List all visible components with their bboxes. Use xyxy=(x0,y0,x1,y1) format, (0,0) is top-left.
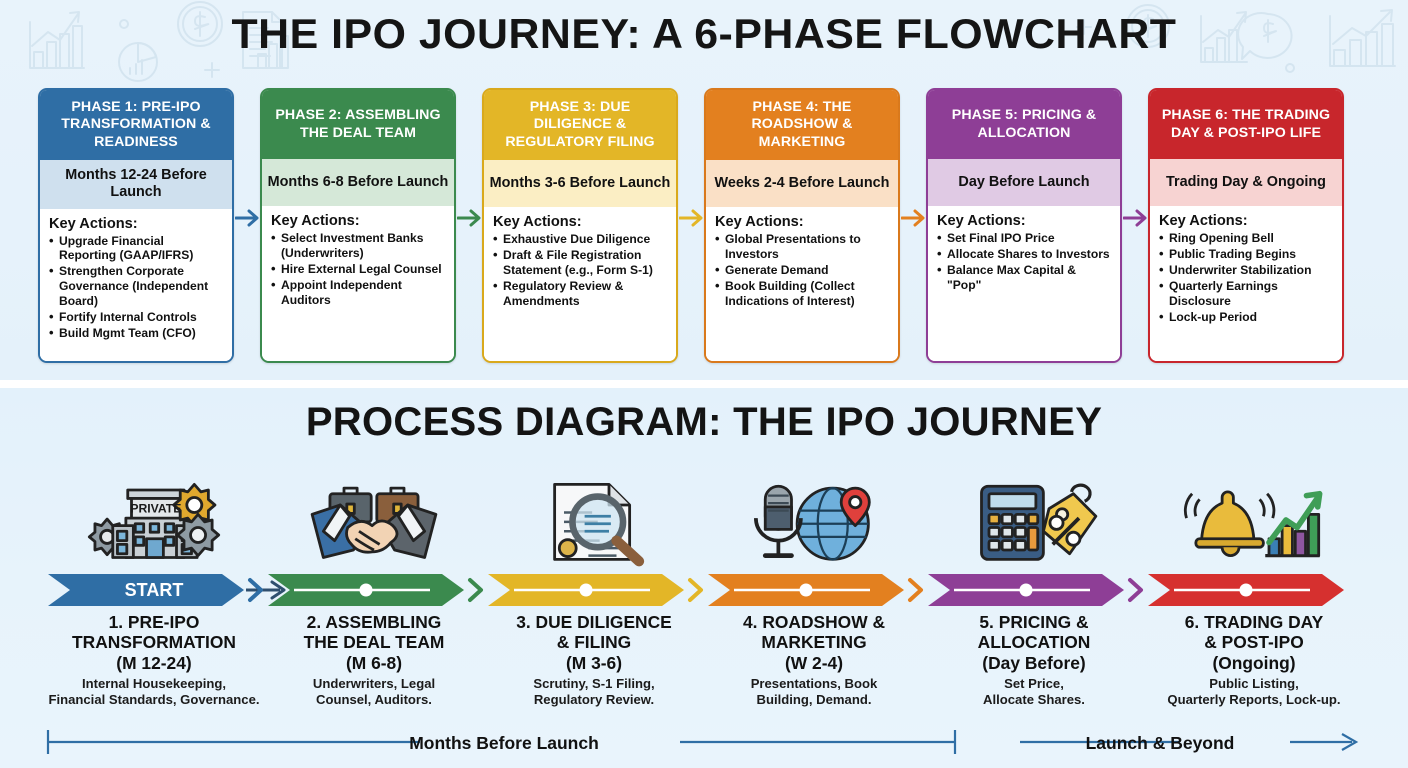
phase-card-5[interactable]: PHASE 5: PRICING & ALLOCATIONDay Before … xyxy=(926,88,1122,363)
process-step-name-line: ALLOCATION xyxy=(924,632,1144,652)
process-step-subtitle-line: Internal Housekeeping, xyxy=(44,676,264,692)
phase-card-slot-5: PHASE 5: PRICING & ALLOCATIONDay Before … xyxy=(926,88,1148,363)
phase-card-2[interactable]: PHASE 2: ASSEMBLING THE DEAL TEAMMonths … xyxy=(260,88,456,363)
process-step-list: PRIVATE 1. PRE-IPOTRANSFORMATION(M 12-24… xyxy=(44,460,1364,710)
phase-card-header-2: PHASE 2: ASSEMBLING THE DEAL TEAM xyxy=(262,90,454,159)
chevron-separator-icon xyxy=(910,580,921,600)
process-step-name-line: MARKETING xyxy=(704,632,924,652)
phase-card-body-4: Key Actions:Global Presentations to Inve… xyxy=(706,207,898,361)
key-actions-title-6: Key Actions: xyxy=(1159,213,1334,229)
connector-right-arrow-icon xyxy=(457,206,483,230)
process-step-name-line: THE DEAL TEAM xyxy=(264,632,484,652)
phase-card-6[interactable]: PHASE 6: THE TRADING DAY & POST-IPO LIFE… xyxy=(1148,88,1344,363)
key-action-item: Quarterly Earnings Disclosure xyxy=(1159,279,1334,309)
microphone-globe-pin-icon xyxy=(704,460,924,568)
key-actions-list-1: Upgrade Financial Reporting (GAAP/IFRS)S… xyxy=(49,234,224,342)
phase-card-body-6: Key Actions:Ring Opening BellPublic Trad… xyxy=(1150,206,1342,361)
process-step-name-line: 5. PRICING & xyxy=(924,612,1144,632)
process-step-subtitle: Presentations, BookBuilding, Demand. xyxy=(704,676,924,707)
process-step-3 xyxy=(484,460,704,568)
section-divider xyxy=(0,380,1408,388)
timeline-right-label: Launch & Beyond xyxy=(1086,733,1235,753)
process-step-name-line: 2. ASSEMBLING xyxy=(264,612,484,632)
document-magnifier-icon xyxy=(484,460,704,568)
process-step-subtitle-line: Financial Standards, Governance. xyxy=(44,692,264,708)
phase-card-header-5: PHASE 5: PRICING & ALLOCATION xyxy=(928,90,1120,159)
connector-right-arrow-icon xyxy=(679,206,705,230)
process-step-text-1: 1. PRE-IPOTRANSFORMATION(M 12-24)Interna… xyxy=(44,612,264,707)
key-action-item: Select Investment Banks (Underwriters) xyxy=(271,231,446,261)
process-step-name-line: (M 3-6) xyxy=(484,653,704,673)
process-step-name-line: (M 6-8) xyxy=(264,653,484,673)
phase-card-timing-6: Trading Day & Ongoing xyxy=(1150,159,1342,206)
process-step-subtitle-line: Building, Demand. xyxy=(704,692,924,708)
svg-text:PRIVATE: PRIVATE xyxy=(130,502,181,516)
key-action-item: Regulatory Review & Amendments xyxy=(493,279,668,309)
process-step-subtitle-line: Underwriters, Legal xyxy=(264,676,484,692)
key-actions-title-3: Key Actions: xyxy=(493,214,668,230)
process-step-subtitle: Underwriters, LegalCounsel, Auditors. xyxy=(264,676,484,707)
process-step-subtitle: Internal Housekeeping,Financial Standard… xyxy=(44,676,264,707)
key-action-item: Public Trading Begins xyxy=(1159,247,1334,262)
process-diagram-title: PROCESS DIAGRAM: THE IPO JOURNEY xyxy=(0,400,1408,445)
process-step-5 xyxy=(924,460,1144,568)
phase-card-timing-2: Months 6-8 Before Launch xyxy=(262,159,454,206)
key-actions-list-6: Ring Opening BellPublic Trading BeginsUn… xyxy=(1159,231,1334,325)
process-step-subtitle-line: Counsel, Auditors. xyxy=(264,692,484,708)
process-step-name-line: 3. DUE DILIGENCE xyxy=(484,612,704,632)
process-step-name-line: 6. TRADING DAY xyxy=(1144,612,1364,632)
phase-card-header-1: PHASE 1: PRE-IPO TRANSFORMATION & READIN… xyxy=(40,90,232,160)
phase-card-slot-2: PHASE 2: ASSEMBLING THE DEAL TEAMMonths … xyxy=(260,88,482,363)
key-action-item: Appoint Independent Auditors xyxy=(271,278,446,308)
chevron-start-label: START xyxy=(125,580,184,600)
process-step-2 xyxy=(264,460,484,568)
phase-card-header-4: PHASE 4: THE ROADSHOW & MARKETING xyxy=(706,90,898,160)
process-step-subtitle-line: Set Price, xyxy=(924,676,1144,692)
process-step-name-line: TRANSFORMATION xyxy=(44,632,264,652)
key-action-item: Balance Max Capital & "Pop" xyxy=(937,263,1112,293)
timeline-axis: Months Before Launch Launch & Beyond xyxy=(0,710,1408,768)
private-company-gears-icon: PRIVATE xyxy=(44,460,264,568)
process-chevron-band: START xyxy=(44,572,1364,608)
process-step-name-line: & FILING xyxy=(484,632,704,652)
phase-card-header-6: PHASE 6: THE TRADING DAY & POST-IPO LIFE xyxy=(1150,90,1342,159)
key-action-item: Ring Opening Bell xyxy=(1159,231,1334,246)
key-action-item: Build Mgmt Team (CFO) xyxy=(49,326,224,341)
process-step-subtitle-line: Scrutiny, S-1 Filing, xyxy=(484,676,704,692)
process-step-text-3: 3. DUE DILIGENCE& FILING(M 3-6)Scrutiny,… xyxy=(484,612,704,707)
process-step-name: 3. DUE DILIGENCE& FILING(M 3-6) xyxy=(484,612,704,673)
phase-card-header-3: PHASE 3: DUE DILIGENCE & REGULATORY FILI… xyxy=(484,90,676,160)
key-action-item: Book Building (Collect Indications of In… xyxy=(715,279,890,309)
process-step-name: 1. PRE-IPOTRANSFORMATION(M 12-24) xyxy=(44,612,264,673)
phase-card-body-2: Key Actions:Select Investment Banks (Und… xyxy=(262,206,454,361)
phase-card-timing-5: Day Before Launch xyxy=(928,159,1120,206)
chevron-separator-icon xyxy=(690,580,701,600)
process-step-1: PRIVATE xyxy=(44,460,264,568)
key-action-item: Lock-up Period xyxy=(1159,310,1334,325)
process-step-subtitle-line: Public Listing, xyxy=(1144,676,1364,692)
phase-card-body-1: Key Actions:Upgrade Financial Reporting … xyxy=(40,209,232,362)
key-action-item: Global Presentations to Investors xyxy=(715,232,890,262)
phase-card-slot-1: PHASE 1: PRE-IPO TRANSFORMATION & READIN… xyxy=(38,88,260,363)
process-step-subtitle-line: Presentations, Book xyxy=(704,676,924,692)
process-diagram-section: PROCESS DIAGRAM: THE IPO JOURNEY xyxy=(0,388,1408,768)
process-step-subtitle: Set Price,Allocate Shares. xyxy=(924,676,1144,707)
process-step-text-2: 2. ASSEMBLINGTHE DEAL TEAM(M 6-8)Underwr… xyxy=(264,612,484,707)
process-step-name-line: & POST-IPO xyxy=(1144,632,1364,652)
process-step-subtitle-line: Allocate Shares. xyxy=(924,692,1144,708)
process-step-text-4: 4. ROADSHOW &MARKETING(W 2-4)Presentatio… xyxy=(704,612,924,707)
chevron-separator-icon xyxy=(470,580,481,600)
key-action-item: Set Final IPO Price xyxy=(937,231,1112,246)
flowchart-section: THE IPO JOURNEY: A 6-PHASE FLOWCHART PHA… xyxy=(0,0,1408,380)
process-step-6 xyxy=(1144,460,1364,568)
phase-card-4[interactable]: PHASE 4: THE ROADSHOW & MARKETINGWeeks 2… xyxy=(704,88,900,363)
key-action-item: Generate Demand xyxy=(715,263,890,278)
process-step-subtitle: Public Listing,Quarterly Reports, Lock-u… xyxy=(1144,676,1364,707)
key-action-item: Hire External Legal Counsel xyxy=(271,262,446,277)
process-step-name: 4. ROADSHOW &MARKETING(W 2-4) xyxy=(704,612,924,673)
key-action-item: Fortify Internal Controls xyxy=(49,310,224,325)
phase-card-slot-6: PHASE 6: THE TRADING DAY & POST-IPO LIFE… xyxy=(1148,88,1370,363)
process-step-subtitle: Scrutiny, S-1 Filing,Regulatory Review. xyxy=(484,676,704,707)
key-actions-title-1: Key Actions: xyxy=(49,216,224,232)
connector-right-arrow-icon xyxy=(235,206,261,230)
key-actions-title-2: Key Actions: xyxy=(271,213,446,229)
process-step-name: 6. TRADING DAY& POST-IPO(Ongoing) xyxy=(1144,612,1364,673)
key-actions-title-4: Key Actions: xyxy=(715,214,890,230)
chevron-separator-icon xyxy=(1130,580,1141,600)
process-step-text-5: 5. PRICING &ALLOCATION(Day Before)Set Pr… xyxy=(924,612,1144,707)
phase-card-body-3: Key Actions:Exhaustive Due DiligenceDraf… xyxy=(484,207,676,361)
process-step-name-line: 4. ROADSHOW & xyxy=(704,612,924,632)
bell-growth-chart-icon xyxy=(1144,460,1364,568)
process-step-name: 5. PRICING &ALLOCATION(Day Before) xyxy=(924,612,1144,673)
process-step-name-line: (W 2-4) xyxy=(704,653,924,673)
process-step-4 xyxy=(704,460,924,568)
key-action-item: Exhaustive Due Diligence xyxy=(493,232,668,247)
phase-card-timing-4: Weeks 2-4 Before Launch xyxy=(706,160,898,207)
process-step-name: 2. ASSEMBLINGTHE DEAL TEAM(M 6-8) xyxy=(264,612,484,673)
key-actions-list-2: Select Investment Banks (Underwriters)Hi… xyxy=(271,231,446,308)
calculator-price-tag-icon xyxy=(924,460,1144,568)
phase-card-timing-1: Months 12-24 Before Launch xyxy=(40,160,232,209)
phase-card-1[interactable]: PHASE 1: PRE-IPO TRANSFORMATION & READIN… xyxy=(38,88,234,363)
phase-card-3[interactable]: PHASE 3: DUE DILIGENCE & REGULATORY FILI… xyxy=(482,88,678,363)
handshake-briefcases-icon xyxy=(264,460,484,568)
connector-right-arrow-icon xyxy=(901,206,927,230)
phase-card-slot-3: PHASE 3: DUE DILIGENCE & REGULATORY FILI… xyxy=(482,88,704,363)
phase-card-timing-3: Months 3-6 Before Launch xyxy=(484,160,676,207)
key-actions-list-5: Set Final IPO PriceAllocate Shares to In… xyxy=(937,231,1112,293)
page-title: THE IPO JOURNEY: A 6-PHASE FLOWCHART xyxy=(0,10,1408,58)
connector-right-arrow-icon xyxy=(1123,206,1149,230)
process-step-text-6: 6. TRADING DAY& POST-IPO(Ongoing)Public … xyxy=(1144,612,1364,707)
key-action-item: Upgrade Financial Reporting (GAAP/IFRS) xyxy=(49,234,224,264)
process-step-name-line: (Day Before) xyxy=(924,653,1144,673)
key-action-item: Underwriter Stabilization xyxy=(1159,263,1334,278)
key-actions-title-5: Key Actions: xyxy=(937,213,1112,229)
process-step-name-line: (M 12-24) xyxy=(44,653,264,673)
phase-card-body-5: Key Actions:Set Final IPO PriceAllocate … xyxy=(928,206,1120,361)
key-action-item: Strengthen Corporate Governance (Indepen… xyxy=(49,264,224,309)
process-step-name-line: (Ongoing) xyxy=(1144,653,1364,673)
process-step-subtitle-line: Regulatory Review. xyxy=(484,692,704,708)
key-action-item: Allocate Shares to Investors xyxy=(937,247,1112,262)
timeline-left-label: Months Before Launch xyxy=(409,733,599,753)
key-action-item: Draft & File Registration Statement (e.g… xyxy=(493,248,668,278)
infographic-root: THE IPO JOURNEY: A 6-PHASE FLOWCHART PHA… xyxy=(0,0,1408,768)
key-actions-list-4: Global Presentations to InvestorsGenerat… xyxy=(715,232,890,309)
process-step-name-line: 1. PRE-IPO xyxy=(44,612,264,632)
phase-card-list: PHASE 1: PRE-IPO TRANSFORMATION & READIN… xyxy=(38,88,1370,363)
key-actions-list-3: Exhaustive Due DiligenceDraft & File Reg… xyxy=(493,232,668,309)
process-step-subtitle-line: Quarterly Reports, Lock-up. xyxy=(1144,692,1364,708)
phase-card-slot-4: PHASE 4: THE ROADSHOW & MARKETINGWeeks 2… xyxy=(704,88,926,363)
